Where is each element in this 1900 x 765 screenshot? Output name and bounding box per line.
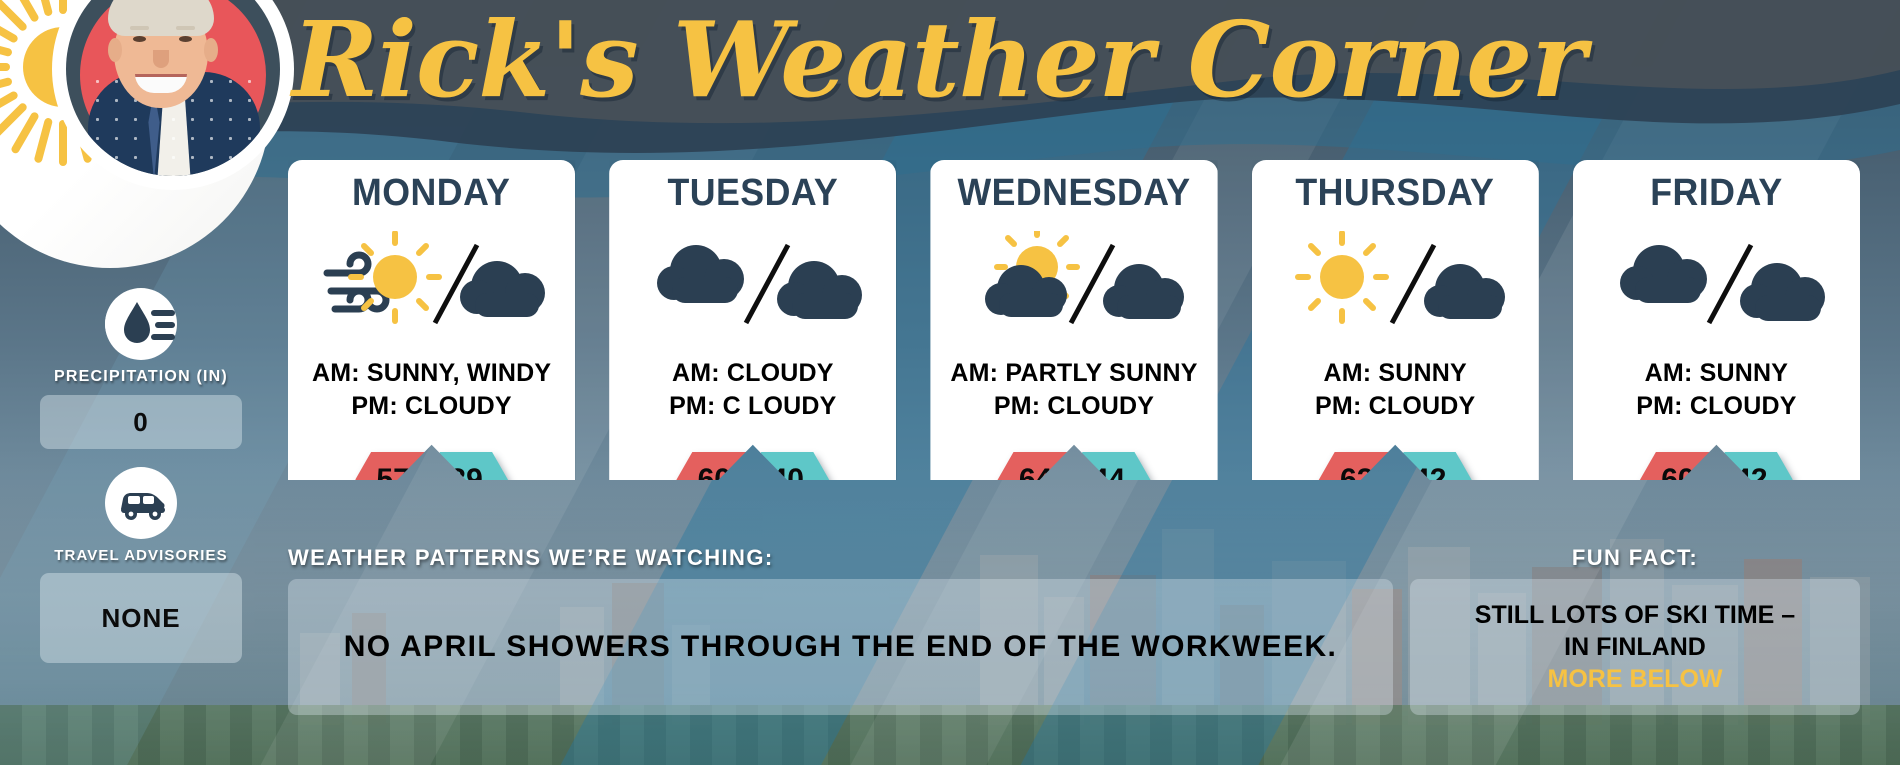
am-text: AM: CLOUDY xyxy=(669,357,836,390)
day-card: TUESDAY AM: CLOUDY PM: C LOUDY xyxy=(609,160,896,480)
weather-icon-row xyxy=(930,229,1217,333)
pm-text: PM: CLOUDY xyxy=(1636,390,1796,423)
am-text: AM: SUNNY xyxy=(1315,357,1475,390)
weather-graphic: Rick's Weather Corner PRECIPITATION (IN)… xyxy=(0,0,1900,765)
sidebar-item-travel-advisories: TRAVEL ADVISORIES NONE xyxy=(40,467,242,663)
travel-advisories-label: TRAVEL ADVISORIES xyxy=(40,547,242,564)
sidebar-item-precipitation: PRECIPITATION (IN) 0 xyxy=(40,288,242,449)
forecast-text: AM: PARTLY SUNNY PM: CLOUDY xyxy=(950,357,1197,423)
precipitation-label: PRECIPITATION (IN) xyxy=(40,368,242,386)
forecast-text: AM: CLOUDY PM: C LOUDY xyxy=(669,357,836,423)
water-drop-icon xyxy=(105,288,177,360)
fun-fact-line-2: IN FINLAND xyxy=(1564,632,1706,662)
weather-patterns-text: NO APRIL SHOWERS THROUGH THE END OF THE … xyxy=(288,579,1393,715)
precipitation-value: 0 xyxy=(40,395,242,449)
forecast-text: AM: SUNNY, WINDY PM: CLOUDY xyxy=(312,357,551,423)
day-name: THURSDAY xyxy=(1296,172,1495,215)
day-name: MONDAY xyxy=(352,172,510,215)
day-card: FRIDAY AM: SUNNY PM: CLOUDY xyxy=(1573,160,1860,480)
day-card: MONDAY xyxy=(288,160,575,480)
sidebar: PRECIPITATION (IN) 0 TRAVEL ADVISORIES N… xyxy=(40,288,242,681)
day-card: WEDNESDAY xyxy=(930,160,1217,480)
am-text: AM: PARTLY SUNNY xyxy=(950,357,1197,390)
pm-text: PM: CLOUDY xyxy=(1315,390,1475,423)
page-title: Rick's Weather Corner xyxy=(292,8,1585,112)
bottom-panels: WEATHER PATTERNS WE’RE WATCHING: NO APRI… xyxy=(40,545,1860,730)
travel-advisories-value: NONE xyxy=(40,573,242,663)
am-text: AM: SUNNY xyxy=(1636,357,1796,390)
fun-fact-more-below: MORE BELOW xyxy=(1548,664,1723,694)
day-name: TUESDAY xyxy=(667,172,838,215)
forecast-text: AM: SUNNY PM: CLOUDY xyxy=(1636,357,1796,423)
fun-fact-panel: FUN FACT: STILL LOTS OF SKI TIME – IN FI… xyxy=(1410,545,1860,715)
day-card: THURSDAY xyxy=(1252,160,1539,480)
am-text: AM: SUNNY, WINDY xyxy=(312,357,551,390)
pm-text: PM: CLOUDY xyxy=(312,390,551,423)
fun-fact-line-1: STILL LOTS OF SKI TIME – xyxy=(1475,600,1795,630)
day-name: WEDNESDAY xyxy=(957,172,1190,215)
forecast-cards: MONDAY xyxy=(288,160,1860,480)
weather-patterns-panel: WEATHER PATTERNS WE’RE WATCHING: NO APRI… xyxy=(288,545,1393,715)
weather-icon-row xyxy=(288,229,575,333)
pm-text: PM: CLOUDY xyxy=(950,390,1197,423)
pm-text: PM: C LOUDY xyxy=(669,390,836,423)
avatar xyxy=(66,0,280,176)
weather-icon-row xyxy=(1573,229,1860,333)
day-name: FRIDAY xyxy=(1650,172,1783,215)
forecast-text: AM: SUNNY PM: CLOUDY xyxy=(1315,357,1475,423)
weather-patterns-label: WEATHER PATTERNS WE’RE WATCHING: xyxy=(288,545,1393,571)
fun-fact-label: FUN FACT: xyxy=(1410,545,1860,571)
anchor-badge xyxy=(0,0,290,278)
weather-icon-row xyxy=(609,229,896,333)
car-icon xyxy=(105,467,177,539)
fun-fact-text: STILL LOTS OF SKI TIME – IN FINLAND MORE… xyxy=(1410,579,1860,715)
weather-icon-row xyxy=(1252,229,1539,333)
